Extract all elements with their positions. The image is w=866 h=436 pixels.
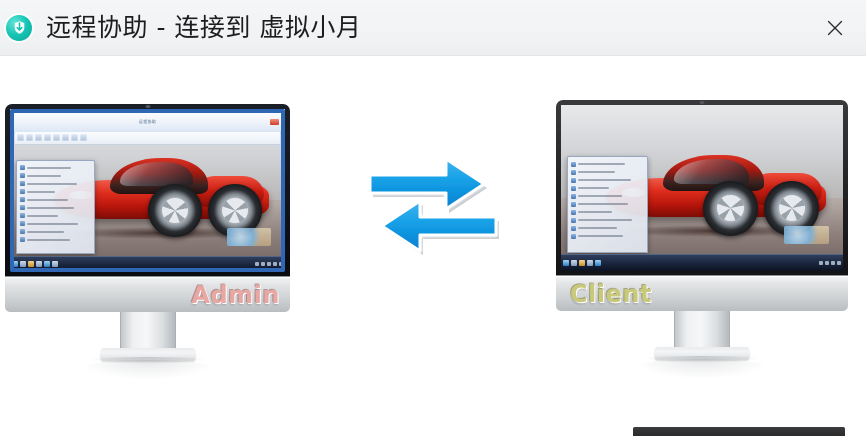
title-bar: 远程协助 - 连接到 虚拟小月 bbox=[0, 0, 866, 56]
admin-monitor-body: 远程协助 Admin bbox=[5, 104, 290, 312]
client-taskbar bbox=[561, 254, 843, 271]
admin-monitor-bezel: 远程协助 bbox=[5, 104, 290, 276]
remote-session-caption: 远程协助 bbox=[139, 119, 156, 125]
bidirectional-transfer-arrows bbox=[360, 141, 506, 266]
admin-monitor: 远程协助 Admin bbox=[5, 104, 290, 380]
client-monitor-chin: Client bbox=[556, 275, 848, 311]
wallpaper-badge bbox=[784, 226, 829, 244]
window-title: 远程协助 - 连接到 虚拟小月 bbox=[46, 15, 361, 40]
remote-assist-globe-icon bbox=[6, 15, 32, 41]
webcam-icon bbox=[700, 101, 705, 104]
close-icon[interactable] bbox=[818, 12, 852, 44]
illustration-stage: 远程协助 Admin bbox=[0, 56, 866, 436]
remote-session-titlebar: 远程协助 bbox=[14, 113, 281, 133]
webcam-icon bbox=[145, 105, 150, 108]
wallpaper-badge bbox=[227, 228, 271, 246]
cut-off-panel-edge bbox=[633, 427, 845, 436]
client-monitor: Client bbox=[556, 100, 848, 379]
client-monitor-bezel bbox=[556, 100, 848, 275]
client-start-menu bbox=[567, 156, 649, 252]
remote-assistance-window: 远程协助 - 连接到 虚拟小月 bbox=[0, 0, 866, 436]
admin-monitor-chin: Admin bbox=[5, 276, 290, 312]
client-monitor-reflection bbox=[632, 359, 772, 379]
admin-taskbar bbox=[10, 256, 285, 272]
client-monitor-neck bbox=[674, 311, 730, 347]
remote-session-toolbar bbox=[15, 132, 280, 145]
remote-session-close-icon bbox=[270, 119, 279, 125]
admin-label: Admin bbox=[191, 283, 280, 307]
client-monitor-body: Client bbox=[556, 100, 848, 311]
admin-monitor-reflection bbox=[78, 360, 218, 380]
admin-start-menu bbox=[16, 160, 96, 255]
client-desktop-wallpaper bbox=[561, 105, 843, 271]
client-label: Client bbox=[570, 282, 652, 306]
admin-monitor-neck bbox=[120, 312, 176, 348]
admin-screen: 远程协助 bbox=[10, 109, 285, 272]
client-screen bbox=[561, 105, 843, 271]
